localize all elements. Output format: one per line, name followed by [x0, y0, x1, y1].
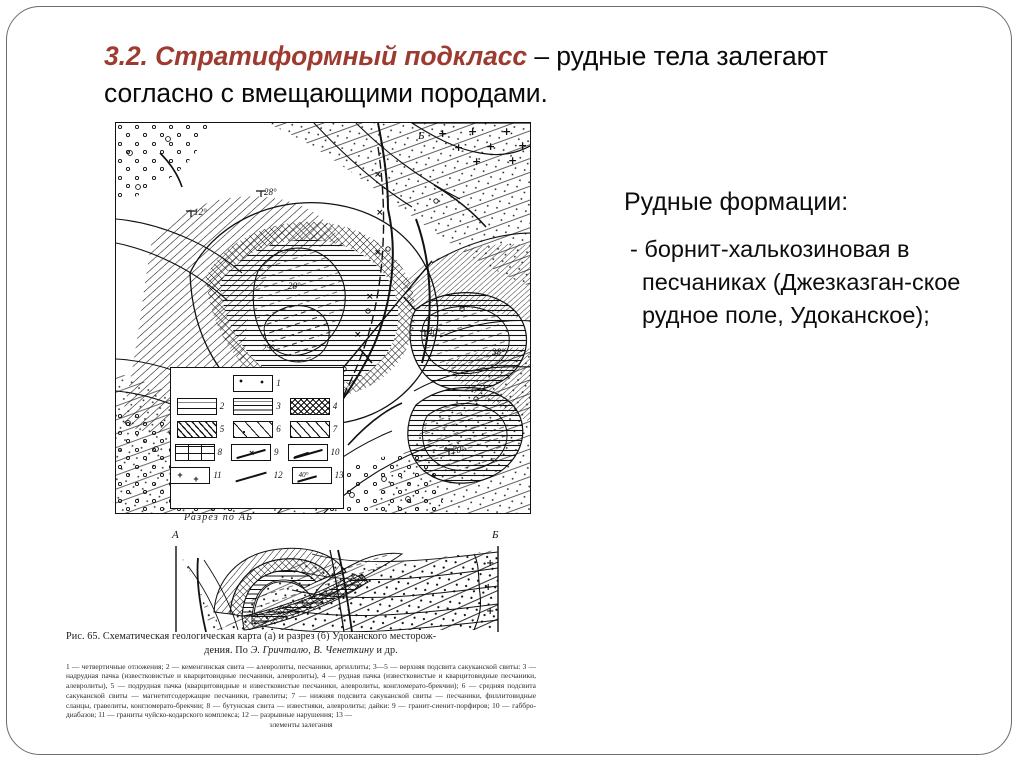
svg-text:+: +: [508, 154, 517, 167]
caption-legend-last: элементы залегания: [66, 720, 536, 730]
svg-text:+: +: [502, 125, 511, 138]
cross-section-svg: + + + А Б: [162, 520, 512, 640]
legend-item-6: 6: [233, 421, 281, 438]
map-label-b: Б: [417, 130, 425, 142]
legend-row: + + 11 12 4: [180, 467, 334, 484]
svg-text:×: ×: [354, 330, 362, 340]
legend-swatch-dotted-diagonal: [233, 421, 273, 438]
legend-item-8: 8: [175, 444, 223, 461]
legend-number: 7: [333, 425, 338, 434]
caption-line2-b: и др.: [374, 645, 398, 656]
legend-row: 2 3 4: [180, 398, 334, 415]
caption-line-2: дения. По Э. Гричталю, В. Ченеткину и др…: [66, 644, 536, 658]
legend-swatch-sparse-diagonal: [290, 421, 330, 438]
legend-grid: 1 2 3 4: [171, 368, 343, 508]
plus-icon: +: [177, 471, 182, 480]
svg-text:+: +: [472, 155, 481, 168]
svg-text:+: +: [486, 558, 494, 569]
svg-text:×: ×: [374, 170, 382, 180]
legend-number: 4: [333, 402, 338, 411]
svg-text:25°: 25°: [262, 343, 275, 353]
legend-swatch-granite-plus: + +: [170, 467, 210, 484]
caption-main: Рис. 65. Схематическая геологическая кар…: [66, 630, 536, 658]
legend-item-5: 5: [177, 421, 225, 438]
legend-swatch-dike-lines: [288, 444, 328, 461]
svg-text:+: +: [484, 582, 492, 593]
cross-mark-icon: ×: [249, 449, 254, 458]
legend-item-7: 7: [290, 421, 338, 438]
svg-text:40°: 40°: [428, 327, 441, 337]
legend-row: 1: [180, 375, 334, 392]
legend-item-10: 10: [288, 444, 340, 461]
caption-line2-a: дения. По: [204, 645, 250, 656]
legend-swatch-quaternary-dots: [233, 375, 273, 392]
legend-number: 10: [331, 448, 340, 457]
plus-icon: +: [193, 475, 198, 484]
caption-legend-text: 1 — четвертичные отложения; 2 — кеменгин…: [66, 662, 536, 730]
legend-row: 5 6 7: [180, 421, 334, 438]
caption-authors: Э. Гричталю, В. Ченеткину: [251, 645, 374, 656]
ore-formation-item: - борнит-халькозиновая в песчаниках (Дже…: [624, 233, 1014, 333]
svg-text:28°: 28°: [288, 281, 301, 291]
legend-row: 8 × 9: [180, 444, 334, 461]
legend-number: 9: [274, 448, 279, 457]
legend-item-11: + + 11: [170, 467, 221, 484]
svg-text:×: ×: [366, 292, 374, 302]
svg-text:×: ×: [376, 208, 384, 218]
legend-item-3: 3: [233, 398, 281, 415]
legend-swatch-bedding-attitude: 40°: [292, 467, 332, 484]
svg-text:+: +: [486, 140, 495, 153]
legend-number: 6: [276, 425, 281, 434]
svg-text:28°: 28°: [264, 187, 277, 197]
page-title: 3.2. Стратиформный подкласс – рудные тел…: [104, 38, 934, 111]
legend-number: 13: [335, 471, 344, 480]
page-title-accent: 3.2. Стратиформный подкласс: [104, 41, 527, 71]
svg-text:+: +: [454, 141, 463, 154]
legend-number: 8: [218, 448, 223, 457]
fault-line: [235, 471, 266, 481]
legend-swatch-fault-line: [231, 467, 271, 484]
legend-swatch-cross-hatch: [290, 398, 330, 415]
svg-text:12°: 12°: [194, 207, 207, 217]
legend-number: 2: [220, 402, 225, 411]
legend-item-13: 40° 13: [292, 467, 344, 484]
cross-section-drawing: + + + А Б: [162, 520, 512, 640]
map-legend-box: 1 2 3 4: [170, 367, 344, 509]
svg-text:+: +: [518, 139, 527, 152]
legend-number: 11: [213, 471, 221, 480]
legend-number: 12: [274, 471, 283, 480]
legend-swatch-dike-with-cross: ×: [231, 444, 271, 461]
legend-swatch-siltstone-lenses: [177, 398, 217, 415]
legend-swatch-diagonal-hatch: [177, 421, 217, 438]
svg-text:+: +: [468, 125, 477, 138]
figure-caption: Рис. 65. Схематическая геологическая кар…: [66, 630, 536, 730]
legend-number: 1: [276, 379, 281, 388]
svg-text:+: +: [438, 127, 447, 140]
ore-formations-lead: Рудные формации:: [624, 186, 1014, 219]
legend-number: 3: [276, 402, 281, 411]
geological-figure: +++ +++ ++: [66, 122, 536, 754]
section-label-a: А: [171, 529, 179, 541]
legend-item-12: 12: [231, 467, 283, 484]
slide-canvas: 3.2. Стратиформный подкласс – рудные тел…: [0, 0, 1024, 767]
legend-item-4: 4: [290, 398, 338, 415]
svg-text:70°: 70°: [452, 445, 465, 455]
legend-swatch-limestone-brick: [175, 444, 215, 461]
caption-legend-body: 1 — четвертичные отложения; 2 — кеменгин…: [66, 662, 536, 720]
svg-text:38°: 38°: [491, 347, 505, 357]
legend-item-1: 1: [233, 375, 281, 392]
legend-swatch-horizontal-lines: [233, 398, 273, 415]
legend-item-2: 2: [177, 398, 225, 415]
svg-text:×: ×: [374, 248, 382, 258]
svg-text:+: +: [486, 606, 494, 617]
geological-map: +++ +++ ++: [115, 122, 531, 514]
legend-item-9: × 9: [231, 444, 279, 461]
ore-formations-block: Рудные формации: - борнит-халькозиновая …: [624, 186, 1014, 333]
legend-number: 5: [220, 425, 225, 434]
caption-line-1: Рис. 65. Схематическая геологическая кар…: [66, 631, 436, 642]
section-label-b: Б: [491, 529, 499, 541]
